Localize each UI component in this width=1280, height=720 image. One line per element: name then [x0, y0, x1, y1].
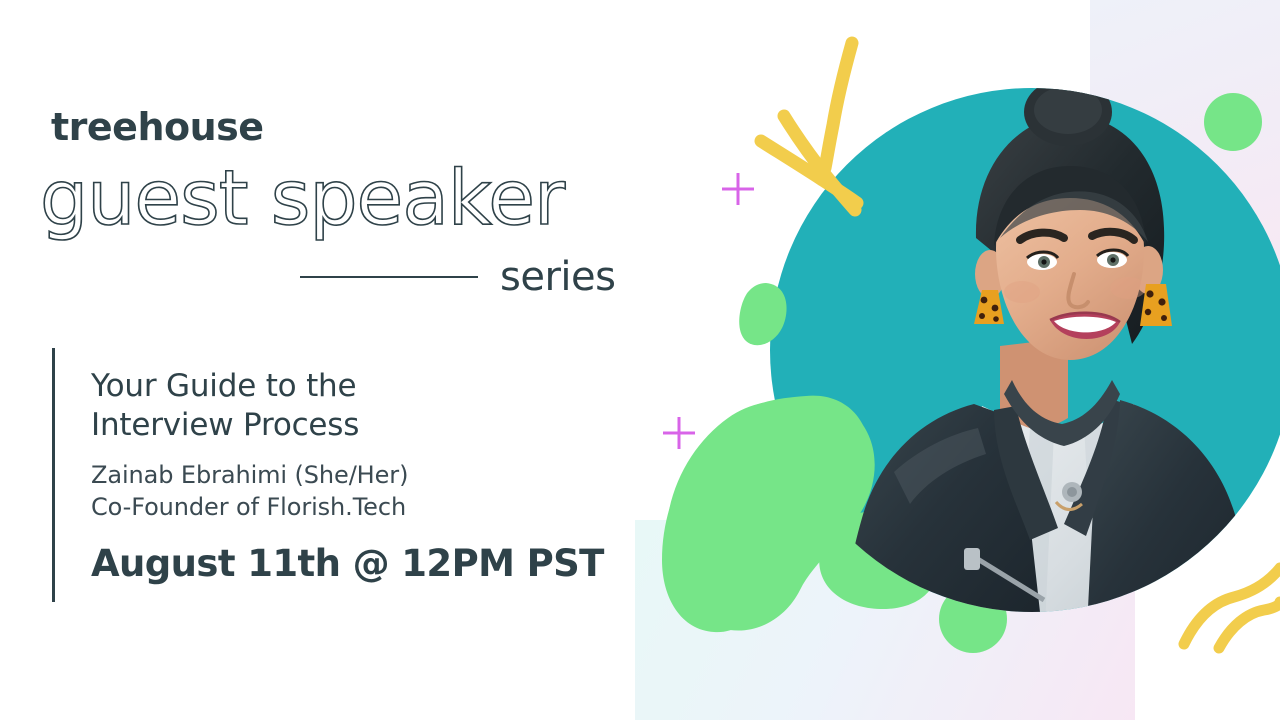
event-datetime: August 11th @ 12PM PST [91, 545, 611, 582]
speaker-portrait [768, 88, 1280, 648]
series-row: series [300, 252, 630, 302]
speaker-portrait-illustration [768, 88, 1280, 648]
talk-info-block: Your Guide to the Interview Process Zain… [91, 367, 611, 582]
vertical-accent-bar [52, 348, 55, 602]
talk-title-line-1: Your Guide to the [91, 368, 356, 404]
series-divider-rule [300, 276, 478, 278]
text-column: treehouse guest speaker series Your Guid… [0, 0, 660, 720]
speaker-role: Co-Founder of Florish.Tech [91, 492, 611, 524]
earring-left-icon [974, 290, 1004, 324]
talk-title-line-2: Interview Process [91, 407, 359, 443]
promo-slide: treehouse guest speaker series Your Guid… [0, 0, 1280, 720]
speaker-name: Zainab Ebrahimi (She/Her) [91, 460, 611, 492]
talk-title: Your Guide to the Interview Process [91, 367, 611, 446]
headline-outline-text: guest speaker [40, 160, 564, 236]
series-label: series [500, 257, 615, 297]
brand-wordmark: treehouse [51, 108, 264, 146]
